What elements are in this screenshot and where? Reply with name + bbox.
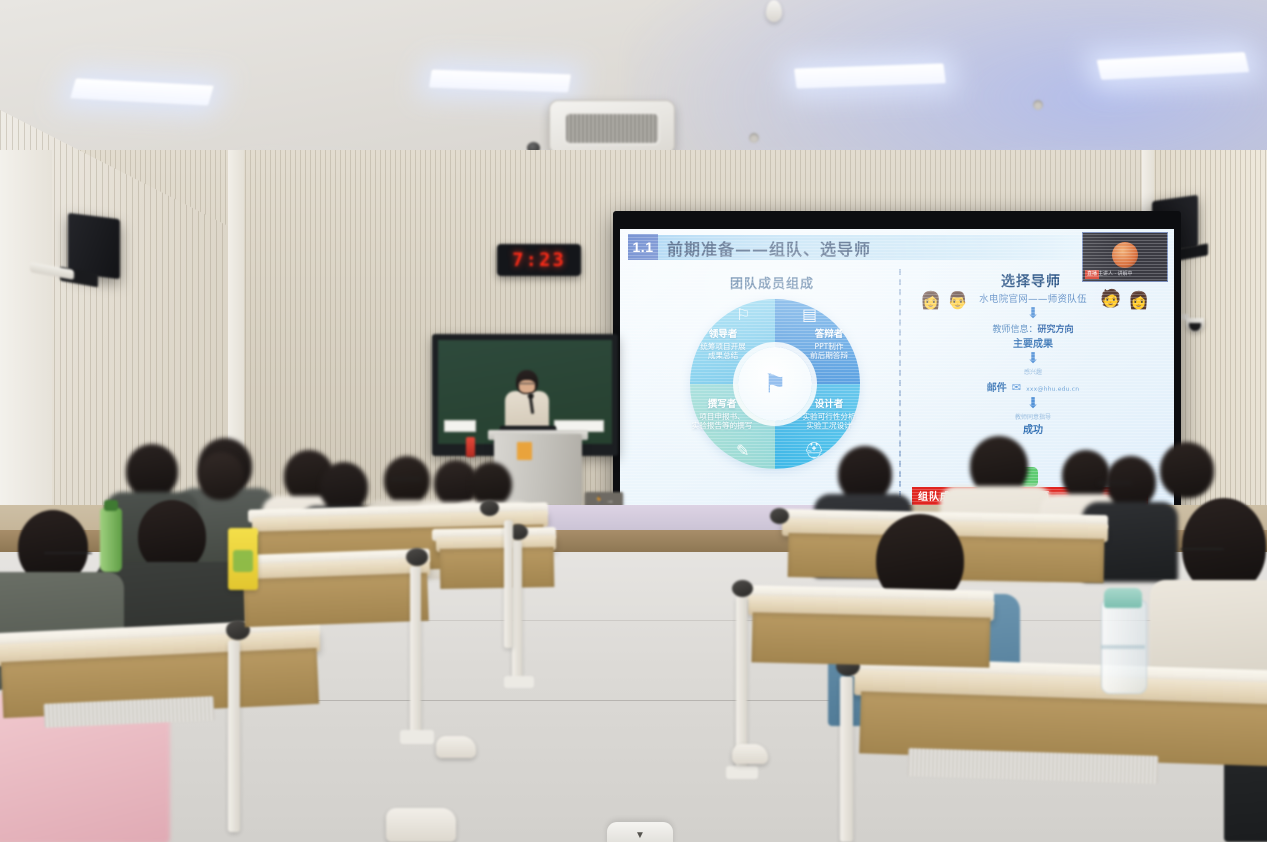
role-detail: PPT制作 xyxy=(792,342,866,351)
ceiling-sprinkler-icon xyxy=(749,133,759,143)
flow-step-4: 成功 xyxy=(920,421,1146,436)
role-detail-2: 前后期答辩 xyxy=(792,351,866,360)
mentor-selection-flow: 水电院官网——师资队伍 ⬇ 教师信息：研究方向 主要成果 ⬇ 感兴趣 邮件 ✉ … xyxy=(920,291,1146,436)
digital-wall-clock: 7:23 xyxy=(497,244,581,276)
glasses-icon xyxy=(44,552,92,556)
desk-foot xyxy=(504,676,534,688)
slide-divider xyxy=(899,269,901,497)
desk-leg xyxy=(228,640,240,832)
shoe-icon xyxy=(386,808,456,842)
glasses-icon xyxy=(1098,482,1132,486)
presenter-glasses-icon xyxy=(519,383,535,388)
flow-step-2: 教师信息：研究方向 主要成果 xyxy=(920,322,1146,350)
role-name: 设计者 xyxy=(790,399,868,411)
desk-knob xyxy=(770,508,789,524)
role-name: 领导者 xyxy=(686,329,760,341)
left-section-heading: 团队成员组成 xyxy=(682,273,862,292)
desk-knob xyxy=(480,500,499,516)
desk-leg xyxy=(840,676,853,842)
desk-body xyxy=(440,547,555,589)
flow-note-interested: 感兴趣 xyxy=(920,367,1146,376)
shoe-icon xyxy=(436,736,476,758)
ceiling-ac-cassette-icon xyxy=(549,100,675,154)
slide-section-number: 1.1 xyxy=(628,234,658,260)
shoe-icon xyxy=(732,744,768,764)
donut-label-presenter: 答辩者 PPT制作 前后期答辩 xyxy=(792,329,866,360)
desk-leg xyxy=(410,566,421,736)
email-address: xxx@hhu.edu.cn xyxy=(1026,386,1079,393)
desk-knob xyxy=(732,580,753,597)
red-can-icon xyxy=(466,437,475,457)
desk-body xyxy=(243,573,429,627)
main-achievements: 主要成果 xyxy=(920,335,1146,350)
flow-note-agree: 教师同意指导 xyxy=(920,412,1146,421)
head xyxy=(126,444,178,498)
glasses-icon xyxy=(390,478,422,482)
envelope-icon: ✉ xyxy=(1012,381,1021,394)
ceiling-light-panel xyxy=(429,70,571,93)
water-bottle-cap xyxy=(1104,588,1142,608)
arrow-down-icon: ⬇ xyxy=(920,396,1146,411)
desk-foot xyxy=(726,766,758,779)
right-section-heading: 选择导师 xyxy=(936,271,1126,291)
green-glass-bottle-icon xyxy=(100,508,122,572)
desk-knob xyxy=(406,548,428,566)
water-bottle-waterline xyxy=(1101,645,1145,649)
arrow-down-icon: ⬇ xyxy=(920,306,1146,321)
role-detail: 实验可行性分析 xyxy=(790,412,868,421)
ceiling-smoke-detector-icon xyxy=(766,0,782,22)
desk-leg xyxy=(504,520,513,648)
desk-leg xyxy=(512,540,522,682)
yellow-juice-carton-icon xyxy=(228,528,258,590)
donut-label-leader: 领导者 统筹项目开展 成果总结 xyxy=(686,329,760,360)
teacher-info-label: 教师信息： xyxy=(992,325,1037,335)
glasses-icon xyxy=(1180,548,1224,552)
lectern-orange-card xyxy=(517,442,532,460)
bottle-cap xyxy=(104,500,118,511)
email-label: 邮件 xyxy=(987,383,1007,394)
head xyxy=(198,452,244,500)
role-name: 答辩者 xyxy=(792,329,866,341)
chalk-tray-note xyxy=(444,420,476,432)
slide-title: 前期准备——组队、选导师 xyxy=(667,236,871,260)
head xyxy=(1062,450,1110,500)
bottom-center-control[interactable]: ▼ xyxy=(607,822,673,842)
arrow-down-icon: ⬇ xyxy=(920,351,1146,366)
role-detail: 项目申报书、 xyxy=(682,412,762,421)
flag-icon: ⚑ xyxy=(763,369,786,400)
role-name: 撰写者 xyxy=(682,399,762,411)
lecture-hall-photo: 7:23 1.1 前期准备——组队、选导师 直播 主讲人 · 讲解中 团队成员组… xyxy=(0,0,1267,842)
flag-person-icon: ⚐ xyxy=(736,305,750,325)
document-pen-icon: ✎ xyxy=(736,441,749,461)
clock-time: 7:23 xyxy=(512,249,566,271)
donut-label-designer: 设计者 实验可行性分析 实验工况设计 xyxy=(790,399,868,430)
ceiling-sprinkler-icon xyxy=(1033,100,1043,110)
presenter-board-icon: ▤ xyxy=(802,305,817,325)
desk-foot xyxy=(400,730,434,744)
desk-body xyxy=(751,612,990,667)
ceiling-light-panel xyxy=(70,78,214,105)
donut-label-writer: 撰写者 项目申报书、 实验报告等的撰写 xyxy=(682,399,762,430)
role-detail-2: 成果总结 xyxy=(686,351,760,360)
head xyxy=(1160,442,1214,498)
flow-step-1: 水电院官网——师资队伍 xyxy=(920,291,1146,305)
flow-step2-label: 教师信息：研究方向 xyxy=(920,322,1146,335)
role-detail: 统筹项目开展 xyxy=(686,342,760,351)
research-direction: 研究方向 xyxy=(1038,325,1074,335)
exit-running-person-icon: 🏃 xyxy=(594,497,604,505)
head xyxy=(320,462,368,512)
role-detail-2: 实验报告等的撰写 xyxy=(682,421,762,430)
presenter-avatar xyxy=(1112,242,1138,268)
flow-step-3: 邮件 ✉ xxx@hhu.edu.cn xyxy=(920,376,1146,395)
exit-arrow-icon: → xyxy=(606,497,614,505)
role-detail-2: 实验工况设计 xyxy=(790,421,868,430)
helmet-tools-icon: ⛑ xyxy=(804,441,824,461)
chevron-down-icon: ▼ xyxy=(635,830,645,841)
team-roles-donut-chart: ⚑ xyxy=(690,299,860,469)
flow-step1-label: 水电院官网——师资队伍 xyxy=(920,291,1146,305)
